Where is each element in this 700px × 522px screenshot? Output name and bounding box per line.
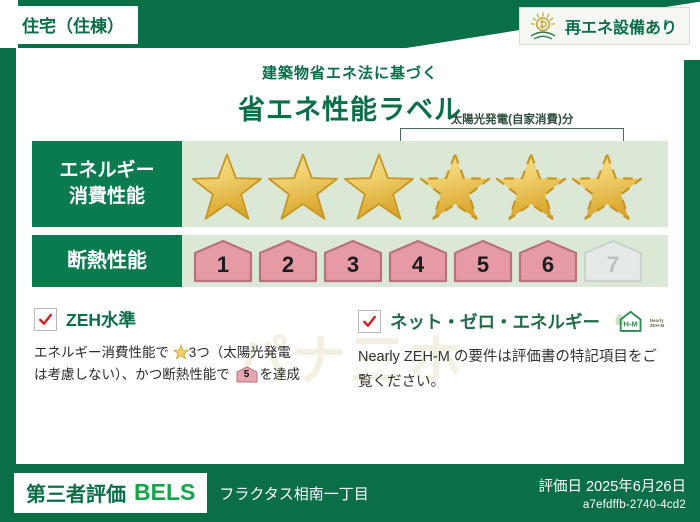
insulation-block-2: 2 [257, 239, 319, 283]
zeh-desc-part1: エネルギー消費性能で [34, 345, 169, 360]
inline-grade-value: 5 [236, 367, 258, 384]
bels-badge: 第三者評価 BELS [14, 473, 207, 513]
insulation-label-text: 断熱性能 [67, 248, 147, 275]
energy-performance-label: 住宅（住棟） 再エネ設備あり 建築物省エネ法に基づく 省エネ性能ラベル パナ三ホ [0, 0, 700, 522]
net-zero-title: ネット・ゼロ・エネルギー [390, 309, 600, 334]
zeh-m-caption-1: Nearly [650, 318, 664, 323]
energy-row-label: エネルギー 消費性能 [32, 141, 182, 227]
renewable-badge-label: 再エネ設備あり [565, 14, 677, 38]
zeh-description: エネルギー消費性能で 3つ（太陽光発電 は考慮しない）、かつ断熱性能で 5 を達… [34, 342, 342, 387]
check-icon [38, 312, 53, 327]
star-icon-solar-6 [570, 151, 644, 223]
star-icon-solid-1 [190, 151, 264, 223]
net-zero-checkbox[interactable] [358, 310, 381, 333]
star-icon-solid-3 [342, 151, 416, 223]
net-zero-header: ネット・ゼロ・エネルギー H-M Nearly ZEH-M [358, 307, 666, 335]
zeh-m-caption-2: ZEH-M [650, 323, 665, 328]
energy-consumption-row: エネルギー 消費性能 太陽光発電(自家消費)分 [32, 141, 668, 227]
label-footer: 第三者評価 BELS フラクタス相南一丁目 評価日 2025年6月26日 a7e… [0, 464, 700, 522]
star-rating [190, 151, 664, 223]
star-icon-solar-5 [494, 151, 568, 223]
zeh-criteria-column: ZEH水準 エネルギー消費性能で 3つ（太陽光発電 は考慮しない）、かつ断熱性能… [34, 307, 342, 394]
insulation-block-4: 4 [387, 239, 449, 283]
insulation-block-5: 5 [452, 239, 514, 283]
title-subtitle: 建築物省エネ法に基づく [16, 62, 684, 83]
insulation-block-value: 4 [412, 252, 424, 283]
evaluation-date: 評価日 2025年6月26日 [539, 475, 686, 496]
footer-meta: 評価日 2025年6月26日 a7efdffb-2740-4cd2 [539, 475, 686, 511]
star-icon-solid-2 [266, 151, 340, 223]
energy-label-line1: エネルギー [59, 158, 154, 184]
inline-star-icon [173, 344, 189, 360]
net-zero-column: ネット・ゼロ・エネルギー H-M Nearly ZEH-M Nearly ZEH… [358, 307, 666, 394]
insulation-block-1: 1 [192, 239, 254, 283]
zeh-title: ZEH水準 [66, 307, 136, 332]
zeh-checkbox[interactable] [34, 308, 57, 331]
evaluation-id: a7efdffb-2740-4cd2 [539, 499, 686, 511]
insulation-row-label: 断熱性能 [32, 235, 182, 287]
zeh-header: ZEH水準 [34, 307, 342, 332]
zeh-desc-stars: 3つ（太陽光発電 [189, 345, 291, 360]
bels-en-label: BELS [134, 479, 195, 506]
bels-jp-label: 第三者評価 [26, 478, 126, 507]
insulation-block-value: 7 [607, 252, 619, 283]
building-type-chip: 住宅（住棟） [8, 6, 138, 44]
solar-bracket [400, 128, 624, 141]
renewable-energy-badge: 再エネ設備あり [519, 7, 690, 45]
label-main-panel: 建築物省エネ法に基づく 省エネ性能ラベル パナ三ホ エネルギー 消費性能 太陽光… [16, 48, 684, 464]
sun-renewable-icon [528, 12, 558, 40]
insulation-block-value: 5 [477, 252, 489, 283]
insulation-block-7: 7 [582, 239, 644, 283]
insulation-block-value: 3 [347, 252, 359, 283]
criteria-columns: ZEH水準 エネルギー消費性能で 3つ（太陽光発電 は考慮しない）、かつ断熱性能… [34, 307, 666, 394]
check-icon [362, 314, 377, 329]
insulation-row-body: 1234567 [182, 235, 668, 287]
zeh-m-logo-text: H-M [623, 319, 637, 328]
insulation-block-value: 1 [217, 252, 229, 283]
project-name: フラクタス相南一丁目 [219, 483, 368, 504]
insulation-block-3: 3 [322, 239, 384, 283]
star-icon-solar-4 [418, 151, 492, 223]
zeh-desc-part3: を達成 [260, 367, 301, 382]
energy-row-body: 太陽光発電(自家消費)分 [182, 141, 668, 227]
net-zero-description: Nearly ZEH-M の要件は評価書の特記項目をご覧ください。 [358, 345, 666, 394]
zeh-desc-part2: は考慮しない）、かつ断熱性能で [34, 367, 230, 382]
zeh-m-logo-icon: H-M Nearly ZEH-M [613, 307, 665, 335]
insulation-block-6: 6 [517, 239, 579, 283]
insulation-block-value: 2 [282, 252, 294, 283]
insulation-block-value: 6 [542, 252, 554, 283]
insulation-row: 断熱性能 1234567 [32, 235, 668, 287]
energy-label-line2: 消費性能 [69, 184, 145, 210]
insulation-grade-blocks: 1234567 [192, 239, 644, 283]
performance-rows: エネルギー 消費性能 太陽光発電(自家消費)分 [16, 141, 684, 287]
solar-generation-note: 太陽光発電(自家消費)分 [400, 111, 624, 127]
inline-grade-block: 5 [236, 366, 258, 383]
